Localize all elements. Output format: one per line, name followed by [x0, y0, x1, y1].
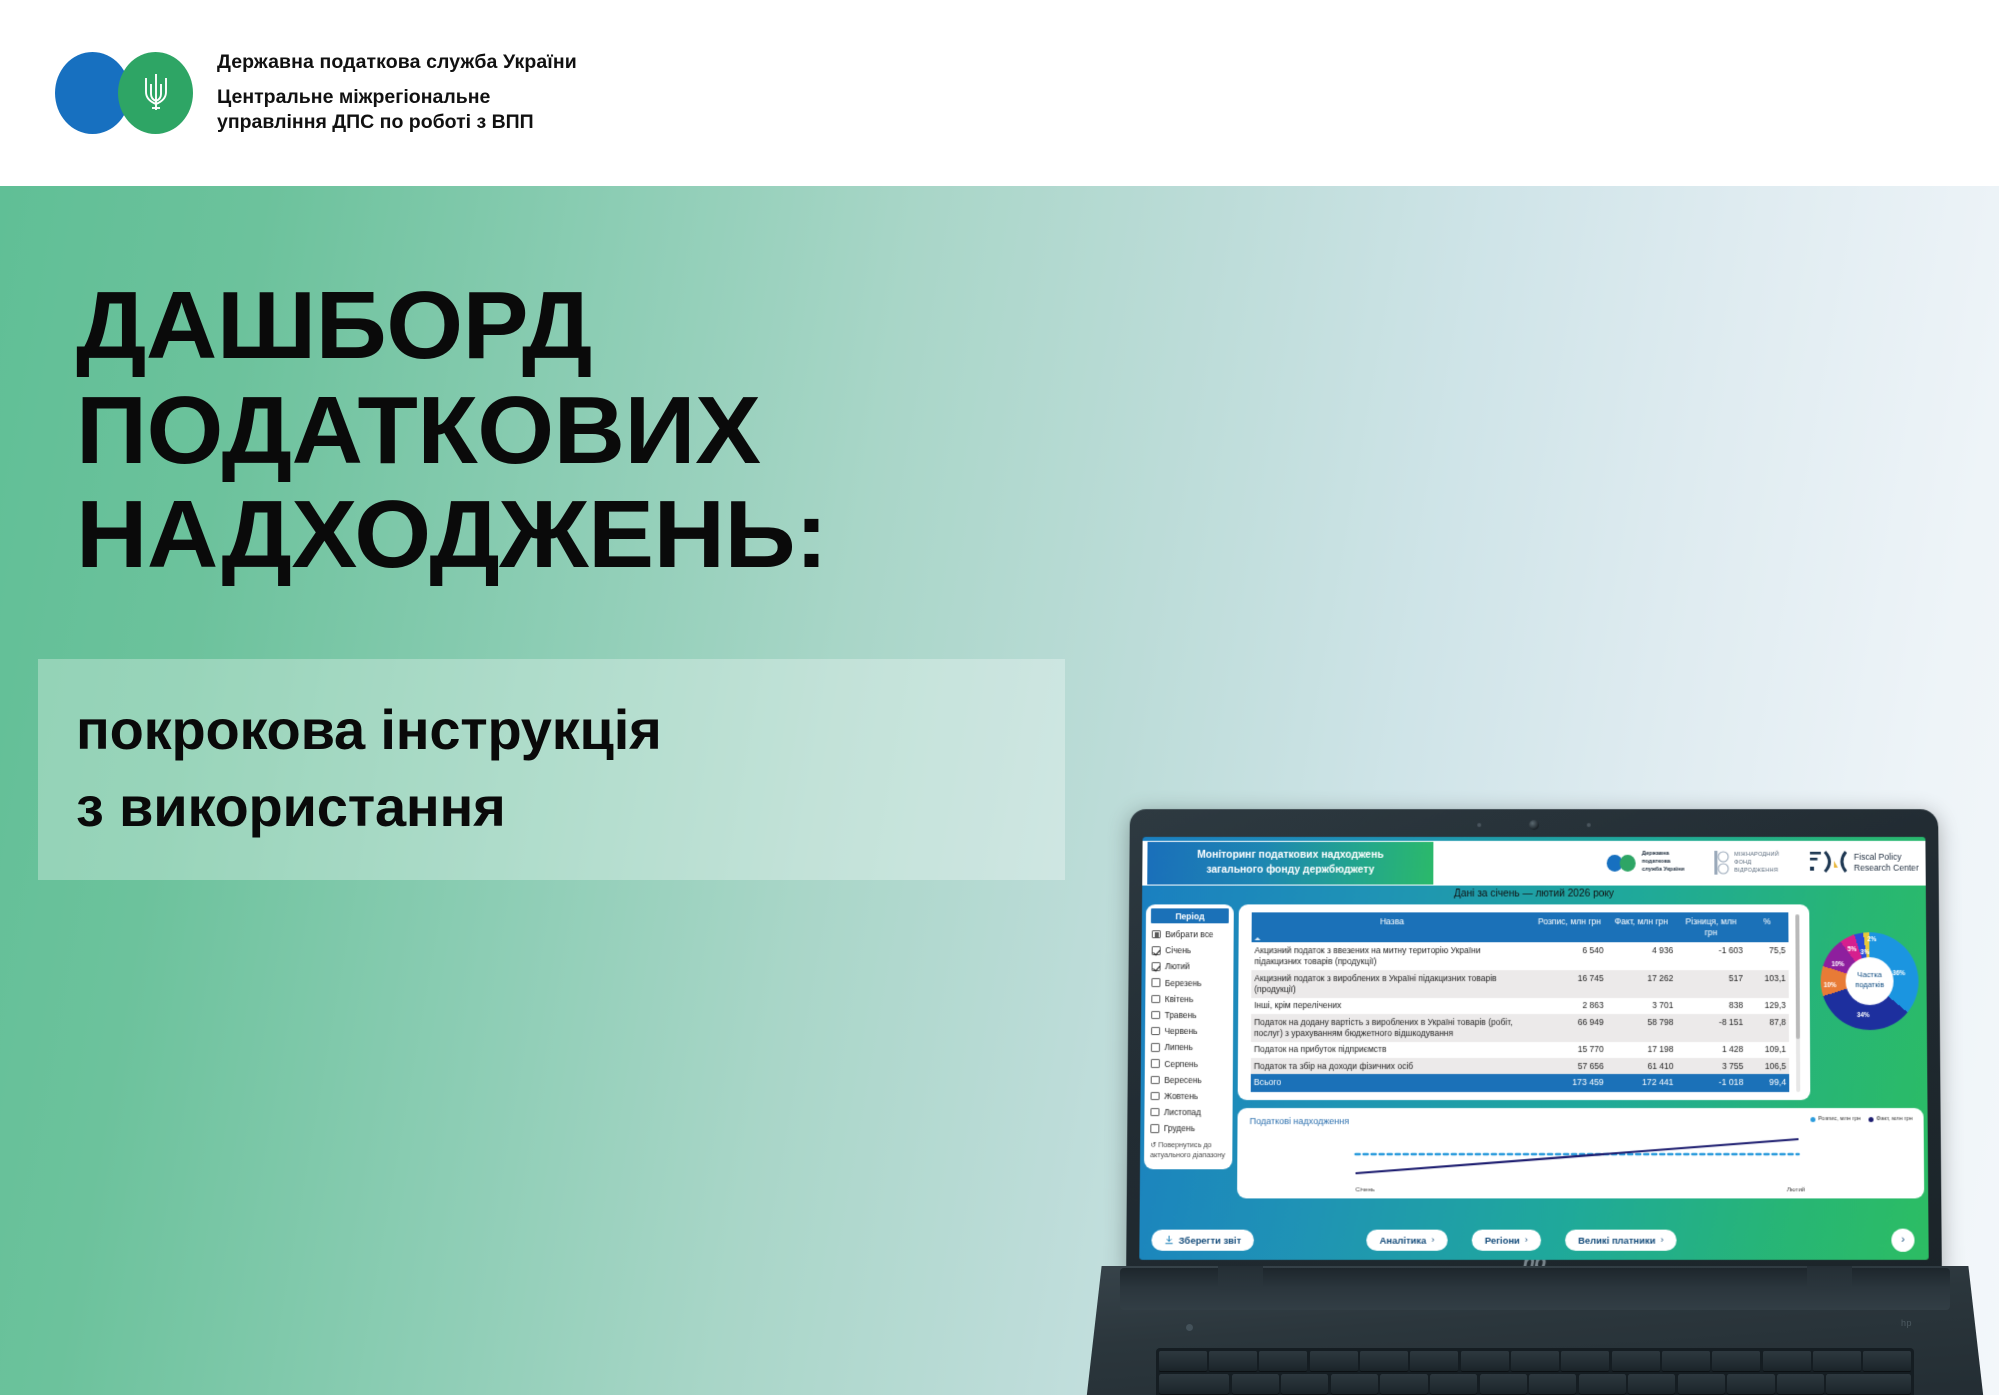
checkbox-unchecked[interactable] — [1150, 1124, 1159, 1133]
donut-chart: Частка податків 36% 34% 10% 10% 5% 3% 2% — [1820, 932, 1919, 1030]
tax-share-donut-card: Частка податків 36% 34% 10% 10% 5% 3% 2% — [1816, 904, 1923, 1100]
legend-item-fakt: Факт, млн грн — [1869, 1116, 1913, 1122]
keyboard-key[interactable] — [1232, 1374, 1279, 1394]
tax-table-card: Назва Розпис, млн грн Факт, млн грн Різн… — [1238, 904, 1811, 1100]
table-row[interactable]: Акцизний податок з вироблених в Україні … — [1251, 970, 1789, 998]
dps-circles-icon — [1607, 854, 1637, 871]
period-item-11[interactable]: Листопад — [1150, 1104, 1226, 1120]
total-label: Всього — [1251, 1074, 1533, 1092]
period-item-label: Січень — [1165, 946, 1191, 956]
cell-rozpys: 15 770 — [1532, 1042, 1606, 1058]
revenue-line-chart-card: Податкові надходження Розпис, млн грн Фа… — [1237, 1108, 1924, 1198]
cell-fakt: 4 936 — [1607, 943, 1677, 971]
cell-pct: 109,1 — [1746, 1042, 1789, 1058]
cell-pct: 75,5 — [1746, 943, 1789, 971]
checkbox-unchecked[interactable] — [1151, 979, 1160, 987]
keyboard-key[interactable] — [1826, 1374, 1911, 1394]
cell-fakt: 58 798 — [1607, 1014, 1677, 1042]
period-item-label: Лютий — [1165, 962, 1190, 972]
donut-label-2: 2% — [1867, 936, 1876, 943]
line-chart-title: Податкові надходження — [1250, 1116, 1350, 1126]
keyboard-key[interactable] — [1310, 1351, 1358, 1371]
th-rozpys[interactable]: Розпис, млн грн — [1532, 912, 1606, 942]
laptop-base: hp PAVILION — [1070, 1266, 1999, 1395]
cell-pct: 129,3 — [1746, 998, 1789, 1014]
total-pct: 99,4 — [1746, 1074, 1789, 1092]
period-item-label: Червень — [1165, 1026, 1198, 1036]
keyboard-key[interactable] — [1511, 1351, 1559, 1371]
keyboard-key[interactable] — [1529, 1374, 1576, 1394]
dashboard-title-banner: Моніторинг податкових надходжень загальн… — [1147, 842, 1433, 885]
cell-rozpys: 16 745 — [1532, 970, 1606, 998]
period-checkbox-list[interactable]: Вибрати всеСіченьЛютийБерезеньКвітеньТра… — [1144, 926, 1233, 1136]
reset-text-2: актуального діапазону — [1150, 1150, 1225, 1159]
donut-label-34: 34% — [1857, 1012, 1870, 1019]
page-subtitle: покрокова інструкція з використання — [76, 691, 662, 846]
table-head: Назва Розпис, млн грн Факт, млн грн Різн… — [1252, 912, 1789, 942]
base-brand-text: hp — [1901, 1318, 1912, 1328]
cell-diff: 3 755 — [1676, 1058, 1746, 1074]
laptop-keyboard[interactable] — [1156, 1348, 1915, 1395]
logo-renaissance-foundation: МІЖНАРОДНИЙ ФОНД ВІДРОДЖЕННЯ — [1714, 850, 1779, 876]
subtitle-line-2: з використання — [76, 768, 662, 845]
reset-range-link[interactable]: ↺Повернутись до актуального діапазону — [1150, 1140, 1230, 1160]
tryzub-icon — [141, 70, 171, 116]
period-item-5[interactable]: Травень — [1151, 1007, 1227, 1023]
keyboard-key[interactable] — [1712, 1351, 1760, 1371]
xaxis-label-sichen: Січень — [1355, 1186, 1374, 1193]
cell-diff: 1 428 — [1676, 1042, 1746, 1058]
table-header-row: Назва Розпис, млн грн Факт, млн грн Різн… — [1252, 912, 1789, 942]
keyboard-key[interactable] — [1763, 1351, 1811, 1371]
checkbox-unchecked[interactable] — [1151, 995, 1160, 1003]
period-item-label: Серпень — [1164, 1059, 1198, 1069]
dashboard-bottom-nav: Зберегти звіт Аналітика › Регіони › — [1139, 1226, 1928, 1254]
tab-analytics-label: Аналітика — [1380, 1234, 1427, 1245]
renaissance-logo-text: МІЖНАРОДНИЙ ФОНД ВІДРОДЖЕННЯ — [1734, 851, 1779, 875]
tab-large-taxpayers-label: Великі платники — [1578, 1234, 1655, 1245]
period-item-1[interactable]: Січень — [1152, 942, 1228, 958]
cell-pct: 106,5 — [1746, 1058, 1789, 1074]
period-item-12[interactable]: Грудень — [1150, 1120, 1226, 1136]
period-item-label: Березень — [1165, 978, 1202, 988]
period-item-10[interactable]: Жовтень — [1151, 1088, 1227, 1104]
chevron-right-icon: › — [1525, 1234, 1528, 1245]
dps-logo-text: Державна податкова служба України — [1642, 851, 1685, 875]
tab-regions[interactable]: Регіони › — [1472, 1229, 1541, 1250]
checkbox-unchecked[interactable] — [1151, 1011, 1160, 1019]
period-item-label: Вересень — [1164, 1075, 1202, 1085]
webcam-icon — [1529, 820, 1539, 830]
cell-diff: -8 151 — [1676, 1014, 1746, 1042]
keyboard-key[interactable] — [1863, 1351, 1911, 1371]
th-name[interactable]: Назва — [1252, 912, 1533, 942]
table-scrollbar[interactable] — [1795, 914, 1800, 1092]
title-line-3: НАДХОДЖЕНЬ: — [76, 483, 827, 588]
renaissance-mark-icon — [1714, 850, 1729, 876]
cell-name: Податок на прибуток підприємств — [1251, 1042, 1532, 1058]
webcam-sensor-right — [1587, 823, 1591, 827]
dps-text-2: податкова — [1642, 859, 1671, 865]
period-item-label: Жовтень — [1164, 1091, 1198, 1101]
period-item-6[interactable]: Червень — [1151, 1023, 1227, 1039]
donut-label-10b: 10% — [1832, 961, 1845, 968]
page-header: Державна податкова служба України Центра… — [0, 0, 1999, 186]
keyboard-key[interactable] — [1813, 1351, 1861, 1371]
donut-label-3: 3% — [1860, 949, 1869, 956]
tax-revenue-table: Назва Розпис, млн грн Факт, млн грн Різн… — [1251, 912, 1790, 1092]
th-diff[interactable]: Різниця, млн грн — [1676, 912, 1746, 942]
keyboard-key[interactable] — [1628, 1374, 1675, 1394]
period-item-9[interactable]: Вересень — [1151, 1072, 1227, 1088]
mfv-text-2: ФОНД — [1734, 860, 1751, 866]
fprc-text-1: Fiscal Policy — [1854, 852, 1902, 862]
cell-rozpys: 2 863 — [1532, 998, 1606, 1014]
cell-fakt: 3 701 — [1607, 998, 1677, 1014]
org-line-2b: управління ДПС по роботі з ВПП — [217, 111, 534, 133]
banner-line-1: Моніторинг податкових надходжень — [1197, 849, 1384, 863]
line-chart-plot — [1237, 1128, 1924, 1180]
subtitle-line-1: покрокова інструкція — [76, 691, 662, 768]
cell-fakt: 17 262 — [1607, 970, 1677, 998]
legend-label-rozpys: Розпис, млн грн — [1818, 1116, 1861, 1122]
tab-analytics[interactable]: Аналітика › — [1367, 1229, 1448, 1250]
period-item-label: Квітень — [1165, 994, 1194, 1004]
keyboard-key[interactable] — [1360, 1351, 1408, 1371]
keyboard-key[interactable] — [1561, 1351, 1609, 1371]
tab-regions-label: Регіони — [1485, 1234, 1520, 1245]
checkbox-unchecked[interactable] — [1151, 1059, 1160, 1068]
checkbox-partial[interactable] — [1152, 930, 1161, 938]
cell-name: Акцизний податок з вироблених в Україні … — [1251, 970, 1532, 998]
cell-diff: -1 603 — [1676, 943, 1746, 971]
keyboard-key[interactable] — [1461, 1351, 1509, 1371]
keyboard-key[interactable] — [1612, 1351, 1660, 1371]
reset-icon: ↺ — [1150, 1140, 1156, 1150]
chevron-right-icon: › — [1660, 1234, 1663, 1245]
chevron-right-icon: › — [1431, 1234, 1434, 1245]
keyboard-key[interactable] — [1159, 1351, 1207, 1371]
table-body: Акцизний податок з ввезених на митну тер… — [1251, 943, 1790, 1092]
save-report-label: Зберегти звіт — [1179, 1234, 1242, 1245]
checkbox-unchecked[interactable] — [1151, 1027, 1160, 1035]
dps-text-1: Державна — [1642, 851, 1670, 857]
download-icon — [1165, 1235, 1174, 1244]
checkbox-unchecked[interactable] — [1151, 1076, 1160, 1085]
donut-label-36: 36% — [1892, 970, 1905, 977]
keyboard-key[interactable] — [1777, 1374, 1824, 1394]
keyboard-key[interactable] — [1662, 1351, 1710, 1371]
org-name: Державна податкова служба України Центра… — [217, 51, 577, 136]
table-row[interactable]: Податок на додану вартість з вироблених … — [1251, 1014, 1789, 1042]
period-item-label: Травень — [1165, 1010, 1197, 1020]
fprc-logo-text: Fiscal Policy Research Center — [1854, 852, 1919, 874]
laptop-lid: hp Моніторинг податкових надходжень зага… — [1126, 809, 1942, 1277]
org-line-1: Державна податкова служба України — [217, 51, 577, 74]
keyboard-key[interactable] — [1259, 1351, 1307, 1371]
title-line-2: ПОДАТКОВИХ — [76, 379, 827, 484]
keyboard-key[interactable] — [1430, 1374, 1477, 1394]
line-chart-legend: Розпис, млн грн Факт, млн грн — [1811, 1116, 1913, 1122]
laptop-mockup: hp Моніторинг податкових надходжень зага… — [960, 626, 1999, 1395]
xaxis-label-lyutyi: Лютий — [1787, 1186, 1805, 1193]
mfv-text-1: МІЖНАРОДНИЙ — [1734, 852, 1779, 858]
page-title: ДАШБОРД ПОДАТКОВИХ НАДХОДЖЕНЬ: — [76, 274, 806, 588]
cell-fakt: 61 410 — [1607, 1058, 1677, 1074]
period-item-label: Листопад — [1164, 1107, 1201, 1117]
donut-label-10a: 10% — [1824, 982, 1837, 989]
legend-label-fakt: Факт, млн грн — [1876, 1116, 1912, 1122]
dps-text-3: служба України — [1642, 867, 1685, 873]
total-fakt: 172 441 — [1607, 1074, 1677, 1092]
period-item-2[interactable]: Лютий — [1152, 959, 1228, 975]
org-line-2a: Центральне міжрегіональне — [217, 86, 490, 108]
keyboard-key[interactable] — [1209, 1351, 1257, 1371]
keyboard-key[interactable] — [1410, 1351, 1458, 1371]
fprc-mark-icon — [1809, 849, 1849, 877]
table-row[interactable]: Інші, крім перелічених2 8633 701838129,3 — [1251, 998, 1789, 1014]
keyboard-row-1 — [1159, 1374, 1912, 1394]
period-item-4[interactable]: Квітень — [1151, 991, 1227, 1007]
checkbox-unchecked[interactable] — [1151, 1043, 1160, 1051]
save-report-button[interactable]: Зберегти звіт — [1151, 1229, 1254, 1250]
legend-item-rozpys: Розпис, млн грн — [1811, 1116, 1861, 1122]
table-row[interactable]: Податок на прибуток підприємств15 77017 … — [1251, 1042, 1789, 1058]
period-item-label: Грудень — [1164, 1123, 1195, 1133]
logo-fprc: Fiscal Policy Research Center — [1809, 849, 1919, 877]
keyboard-key[interactable] — [1380, 1374, 1427, 1394]
keyboard-row-0 — [1159, 1351, 1912, 1371]
period-item-label: Вибрати все — [1165, 929, 1213, 939]
cell-rozpys: 6 540 — [1532, 943, 1606, 971]
webcam-sensor-left — [1477, 823, 1481, 827]
checkbox-checked[interactable] — [1152, 962, 1161, 970]
cell-name: Інші, крім перелічених — [1251, 998, 1532, 1014]
keyboard-key[interactable] — [1159, 1374, 1230, 1394]
laptop-display: Моніторинг податкових надходжень загальн… — [1139, 837, 1928, 1260]
cell-rozpys: 66 949 — [1532, 1014, 1606, 1042]
period-item-3[interactable]: Березень — [1151, 975, 1227, 991]
cell-diff: 517 — [1676, 970, 1746, 998]
mfv-text-3: ВІДРОДЖЕННЯ — [1734, 868, 1778, 874]
total-diff: -1 018 — [1677, 1074, 1747, 1092]
keyboard-key[interactable] — [1727, 1374, 1774, 1394]
dps-logo-icon — [55, 52, 195, 134]
title-line-1: ДАШБОРД — [76, 274, 827, 379]
period-item-0[interactable]: Вибрати все — [1152, 926, 1228, 942]
fprc-text-2: Research Center — [1854, 863, 1919, 873]
th-fakt[interactable]: Факт, млн грн — [1606, 912, 1676, 942]
cell-pct: 103,1 — [1746, 970, 1789, 998]
cell-fakt: 17 198 — [1607, 1042, 1677, 1058]
series-fakt-line — [1356, 1139, 1799, 1173]
donut-label-5: 5% — [1847, 946, 1856, 953]
donut-center-label: Частка податків — [1846, 970, 1894, 990]
donut-title-1: Частка — [1857, 970, 1881, 979]
checkbox-unchecked[interactable] — [1151, 1092, 1160, 1101]
cell-name: Податок на додану вартість з вироблених … — [1251, 1014, 1532, 1042]
table-row[interactable]: Податок та збір на доходи фізичних осіб5… — [1251, 1058, 1789, 1074]
cell-rozpys: 57 656 — [1532, 1058, 1606, 1074]
legend-dot-rozpys — [1811, 1117, 1816, 1122]
legend-dot-fakt — [1869, 1117, 1874, 1122]
th-pct[interactable]: % — [1746, 912, 1789, 942]
tab-large-taxpayers[interactable]: Великі платники › — [1565, 1229, 1677, 1250]
cell-name: Акцизний податок з ввезених на митну тер… — [1251, 943, 1532, 971]
period-item-7[interactable]: Липень — [1151, 1039, 1227, 1055]
cell-pct: 87,8 — [1746, 1014, 1789, 1042]
dashboard-logos: Державна податкова служба України — [1607, 845, 1919, 881]
keyboard-key[interactable] — [1579, 1374, 1626, 1394]
keyboard-key[interactable] — [1678, 1374, 1725, 1394]
power-button[interactable] — [1186, 1324, 1193, 1331]
reset-text-1: Повернутись до — [1158, 1140, 1211, 1149]
dashboard-screen: Моніторинг податкових надходжень загальн… — [1139, 837, 1928, 1260]
org-line-2: Центральне міжрегіональне управління ДПС… — [217, 85, 577, 136]
checkbox-checked[interactable] — [1152, 946, 1161, 954]
period-filter-panel: Період Вибрати всеСіченьЛютийБерезеньКві… — [1144, 904, 1234, 1169]
period-item-8[interactable]: Серпень — [1151, 1055, 1227, 1071]
banner-line-2: загального фонду держбюджету — [1206, 863, 1374, 877]
table-row[interactable]: Акцизний податок з ввезених на митну тер… — [1251, 943, 1788, 971]
table-total-row: Всього173 459172 441-1 01899,4 — [1251, 1074, 1790, 1092]
donut-title-2: податків — [1855, 980, 1884, 989]
slide-root: Державна податкова служба України Центра… — [0, 0, 1999, 1395]
sort-ascending-icon — [1255, 938, 1261, 941]
cell-name: Податок та збір на доходи фізичних осіб — [1251, 1058, 1533, 1074]
cell-diff: 838 — [1676, 998, 1746, 1014]
next-page-button[interactable]: › — [1891, 1228, 1914, 1251]
checkbox-unchecked[interactable] — [1150, 1108, 1159, 1117]
data-date-range: Дані за січень — лютий 2026 року — [1142, 889, 1926, 900]
hero-section: ДАШБОРД ПОДАТКОВИХ НАДХОДЖЕНЬ: покрокова… — [0, 186, 1999, 1395]
keyboard-key[interactable] — [1331, 1374, 1378, 1394]
keyboard-key[interactable] — [1281, 1374, 1328, 1394]
total-rozpys: 173 459 — [1532, 1074, 1606, 1092]
logo-dps: Державна податкова служба України — [1607, 851, 1685, 875]
keyboard-key[interactable] — [1480, 1374, 1527, 1394]
period-panel-title: Період — [1151, 908, 1229, 923]
period-item-label: Липень — [1164, 1042, 1192, 1052]
